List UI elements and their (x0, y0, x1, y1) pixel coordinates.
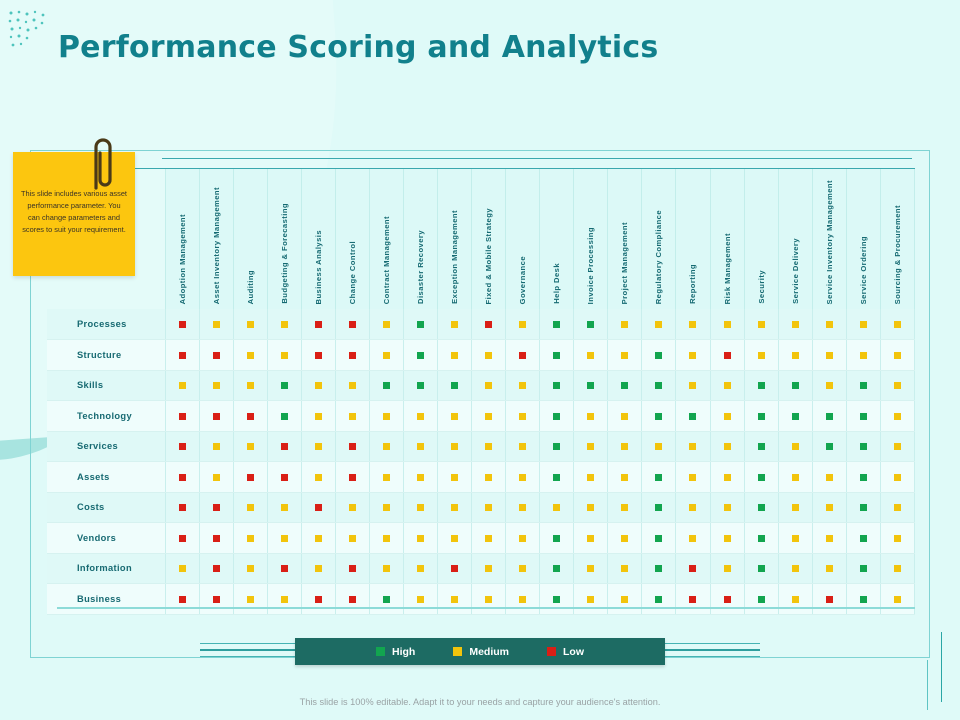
score-marker-medium (894, 321, 901, 328)
matrix-cell[interactable] (744, 584, 778, 615)
matrix-cell[interactable] (438, 340, 472, 371)
matrix-cell[interactable] (233, 462, 267, 493)
matrix-cell[interactable] (267, 462, 301, 493)
matrix-cell[interactable] (438, 553, 472, 584)
matrix-cell[interactable] (438, 492, 472, 523)
matrix-cell[interactable] (846, 340, 880, 371)
matrix-cell[interactable] (335, 309, 369, 340)
matrix-cell[interactable] (165, 401, 199, 432)
matrix-cell[interactable] (540, 553, 574, 584)
matrix-cell[interactable] (880, 340, 914, 371)
matrix-cell[interactable] (778, 553, 812, 584)
matrix-column-header-label: Sourcing & Procurement (892, 205, 903, 304)
matrix-cell[interactable] (438, 431, 472, 462)
matrix-cell[interactable] (778, 370, 812, 401)
matrix-cell[interactable] (506, 401, 540, 432)
matrix-cell[interactable] (267, 492, 301, 523)
score-marker-medium (383, 535, 390, 542)
matrix-cell[interactable] (335, 553, 369, 584)
matrix-cell[interactable] (267, 523, 301, 554)
score-marker-low (315, 321, 322, 328)
matrix-cell[interactable] (369, 370, 403, 401)
matrix-cell[interactable] (710, 370, 744, 401)
score-marker-low (247, 413, 254, 420)
matrix-cell[interactable] (676, 553, 710, 584)
matrix-cell[interactable] (301, 553, 335, 584)
score-marker-medium (485, 596, 492, 603)
matrix-cell[interactable] (199, 431, 233, 462)
matrix-cell[interactable] (846, 523, 880, 554)
matrix-cell[interactable] (403, 462, 437, 493)
matrix-cell[interactable] (642, 553, 676, 584)
matrix-cell[interactable] (199, 492, 233, 523)
matrix-cell[interactable] (880, 401, 914, 432)
matrix-row-label: Skills (47, 370, 165, 401)
matrix-cell[interactable] (710, 584, 744, 615)
matrix-cell[interactable] (778, 492, 812, 523)
score-marker-high (553, 443, 560, 450)
matrix-cell[interactable] (812, 584, 846, 615)
matrix-cell[interactable] (540, 370, 574, 401)
matrix-cell[interactable] (574, 340, 608, 371)
matrix-cell[interactable] (642, 462, 676, 493)
table-row: Business (47, 584, 915, 615)
score-marker-high (383, 596, 390, 603)
matrix-cell[interactable] (574, 401, 608, 432)
matrix-cell[interactable] (540, 523, 574, 554)
matrix-cell[interactable] (676, 370, 710, 401)
matrix-cell[interactable] (846, 309, 880, 340)
matrix-cell[interactable] (608, 462, 642, 493)
matrix-cell[interactable] (880, 553, 914, 584)
score-marker-medium (315, 474, 322, 481)
score-marker-medium (383, 504, 390, 511)
matrix-cell[interactable] (846, 431, 880, 462)
matrix-cell[interactable] (472, 309, 506, 340)
matrix-cell[interactable] (642, 401, 676, 432)
score-marker-medium (281, 504, 288, 511)
matrix-cell[interactable] (301, 340, 335, 371)
matrix-column-header: Sourcing & Procurement (880, 169, 914, 309)
table-row: Vendors (47, 523, 915, 554)
matrix-cell[interactable] (335, 523, 369, 554)
matrix-cell[interactable] (335, 431, 369, 462)
matrix-cell[interactable] (267, 370, 301, 401)
score-marker-medium (553, 504, 560, 511)
matrix-cell[interactable] (438, 401, 472, 432)
matrix-cell[interactable] (812, 462, 846, 493)
matrix-cell[interactable] (642, 523, 676, 554)
matrix-cell[interactable] (438, 462, 472, 493)
sticky-note-text: This slide includes various asset perfor… (13, 152, 135, 236)
matrix-cell[interactable] (369, 401, 403, 432)
matrix-cell[interactable] (301, 523, 335, 554)
matrix-cell[interactable] (710, 401, 744, 432)
matrix-cell[interactable] (778, 401, 812, 432)
matrix-cell[interactable] (608, 431, 642, 462)
matrix-cell[interactable] (199, 340, 233, 371)
matrix-cell[interactable] (403, 553, 437, 584)
matrix-cell[interactable] (676, 401, 710, 432)
matrix-cell[interactable] (267, 431, 301, 462)
score-marker-medium (213, 474, 220, 481)
score-marker-high (655, 504, 662, 511)
matrix-cell[interactable] (540, 401, 574, 432)
matrix-cell[interactable] (301, 584, 335, 615)
score-marker-medium (247, 443, 254, 450)
score-marker-high (860, 413, 867, 420)
matrix-cell[interactable] (710, 523, 744, 554)
matrix-cell[interactable] (438, 309, 472, 340)
matrix-cell[interactable] (335, 401, 369, 432)
matrix-cell[interactable] (472, 584, 506, 615)
score-marker-medium (587, 352, 594, 359)
matrix-cell[interactable] (642, 492, 676, 523)
matrix-cell[interactable] (233, 431, 267, 462)
matrix-cell[interactable] (233, 401, 267, 432)
score-marker-medium (894, 535, 901, 542)
matrix-cell[interactable] (267, 584, 301, 615)
matrix-cell[interactable] (369, 462, 403, 493)
matrix-column-header-label: Service Ordering (858, 236, 869, 304)
matrix-cell[interactable] (778, 340, 812, 371)
matrix-cell[interactable] (369, 309, 403, 340)
matrix-cell[interactable] (403, 370, 437, 401)
matrix-cell[interactable] (199, 309, 233, 340)
dot-pattern-decoration (6, 8, 52, 54)
matrix-cell[interactable] (369, 431, 403, 462)
matrix-cell[interactable] (880, 370, 914, 401)
matrix-cell[interactable] (608, 553, 642, 584)
matrix-cell[interactable] (506, 462, 540, 493)
matrix-column-header-label: Auditing (245, 270, 256, 304)
matrix-cell[interactable] (233, 370, 267, 401)
score-marker-high (860, 443, 867, 450)
score-marker-medium (281, 352, 288, 359)
matrix-row-label: Costs (47, 492, 165, 523)
matrix-cell[interactable] (403, 401, 437, 432)
matrix-cell[interactable] (472, 370, 506, 401)
matrix-cell[interactable] (506, 553, 540, 584)
matrix-cell[interactable] (608, 584, 642, 615)
matrix-column-header-label: Contract Management (381, 216, 392, 304)
matrix-cell[interactable] (812, 309, 846, 340)
matrix-cell[interactable] (642, 431, 676, 462)
matrix-cell[interactable] (165, 523, 199, 554)
matrix-cell[interactable] (574, 523, 608, 554)
matrix-cell[interactable] (506, 370, 540, 401)
matrix-cell[interactable] (199, 584, 233, 615)
score-marker-medium (383, 321, 390, 328)
score-marker-medium (247, 504, 254, 511)
matrix-cell[interactable] (369, 340, 403, 371)
matrix-cell[interactable] (540, 340, 574, 371)
matrix-cell[interactable] (846, 401, 880, 432)
score-marker-medium (213, 382, 220, 389)
matrix-cell[interactable] (880, 584, 914, 615)
matrix-cell[interactable] (472, 431, 506, 462)
matrix-cell[interactable] (369, 492, 403, 523)
score-marker-medium (792, 321, 799, 328)
score-marker-low (724, 352, 731, 359)
matrix-cell[interactable] (472, 553, 506, 584)
score-marker-medium (826, 504, 833, 511)
score-marker-medium (315, 413, 322, 420)
matrix-cell[interactable] (199, 553, 233, 584)
matrix-column-header-label: Exception Management (449, 210, 460, 304)
matrix-cell[interactable] (506, 340, 540, 371)
score-marker-medium (894, 565, 901, 572)
matrix-cell[interactable] (233, 492, 267, 523)
matrix-cell[interactable] (676, 309, 710, 340)
matrix-cell[interactable] (744, 370, 778, 401)
score-marker-medium (621, 321, 628, 328)
matrix-cell[interactable] (812, 553, 846, 584)
matrix-cell[interactable] (165, 553, 199, 584)
matrix-cell[interactable] (608, 370, 642, 401)
matrix-cell[interactable] (199, 370, 233, 401)
matrix-cell[interactable] (846, 370, 880, 401)
matrix-column-header: Asset Inventory Management (199, 169, 233, 309)
matrix-cell[interactable] (812, 340, 846, 371)
score-marker-medium (689, 504, 696, 511)
matrix-cell[interactable] (608, 309, 642, 340)
matrix-cell[interactable] (335, 584, 369, 615)
matrix-cell[interactable] (301, 462, 335, 493)
matrix-cell[interactable] (438, 370, 472, 401)
matrix-cell[interactable] (744, 553, 778, 584)
matrix-cell[interactable] (710, 462, 744, 493)
matrix-cell[interactable] (506, 584, 540, 615)
matrix-cell[interactable] (676, 462, 710, 493)
score-marker-medium (860, 321, 867, 328)
matrix-cell[interactable] (472, 523, 506, 554)
score-marker-medium (519, 413, 526, 420)
matrix-cell[interactable] (846, 492, 880, 523)
matrix-cell[interactable] (165, 492, 199, 523)
score-marker-high (587, 321, 594, 328)
matrix-cell[interactable] (165, 462, 199, 493)
matrix-cell[interactable] (301, 309, 335, 340)
matrix-cell[interactable] (676, 492, 710, 523)
matrix-cell[interactable] (846, 462, 880, 493)
matrix-cell[interactable] (710, 309, 744, 340)
matrix-cell[interactable] (233, 523, 267, 554)
score-marker-low (213, 352, 220, 359)
matrix-cell[interactable] (403, 492, 437, 523)
score-marker-medium (519, 596, 526, 603)
matrix-cell[interactable] (540, 492, 574, 523)
matrix-cell[interactable] (744, 523, 778, 554)
score-marker-high (792, 413, 799, 420)
matrix-cell[interactable] (744, 431, 778, 462)
matrix-column-header: Regulatory Compliance (642, 169, 676, 309)
matrix-row-label: Processes (47, 309, 165, 340)
matrix-column-header: Exception Management (438, 169, 472, 309)
matrix-cell[interactable] (642, 584, 676, 615)
matrix-cell[interactable] (267, 401, 301, 432)
matrix-cell[interactable] (574, 492, 608, 523)
matrix-cell[interactable] (880, 492, 914, 523)
matrix-cell[interactable] (642, 309, 676, 340)
matrix-cell[interactable] (710, 340, 744, 371)
matrix-cell[interactable] (472, 340, 506, 371)
matrix-cell[interactable] (301, 370, 335, 401)
matrix-row-label: Structure (47, 340, 165, 371)
score-marker-medium (724, 443, 731, 450)
matrix-cell[interactable] (540, 584, 574, 615)
matrix-cell[interactable] (574, 462, 608, 493)
score-marker-medium (247, 382, 254, 389)
score-marker-medium (451, 321, 458, 328)
matrix-cell[interactable] (199, 523, 233, 554)
matrix-cell[interactable] (574, 553, 608, 584)
matrix-cell[interactable] (642, 370, 676, 401)
matrix-cell[interactable] (608, 523, 642, 554)
matrix-cell[interactable] (369, 523, 403, 554)
matrix-cell[interactable] (812, 401, 846, 432)
score-marker-medium (485, 413, 492, 420)
matrix-cell[interactable] (267, 309, 301, 340)
score-marker-medium (587, 504, 594, 511)
matrix-cell[interactable] (403, 309, 437, 340)
matrix-cell[interactable] (744, 340, 778, 371)
matrix-cell[interactable] (301, 431, 335, 462)
matrix-cell[interactable] (744, 492, 778, 523)
score-marker-low (724, 596, 731, 603)
matrix-cell[interactable] (267, 340, 301, 371)
score-marker-medium (724, 504, 731, 511)
matrix-cell[interactable] (744, 462, 778, 493)
matrix-cell[interactable] (335, 370, 369, 401)
matrix-cell[interactable] (812, 523, 846, 554)
matrix-cell[interactable] (608, 340, 642, 371)
matrix-cell[interactable] (574, 309, 608, 340)
matrix-cell[interactable] (812, 370, 846, 401)
matrix-cell[interactable] (506, 492, 540, 523)
score-marker-low (179, 443, 186, 450)
legend-label: Low (563, 646, 584, 658)
matrix-cell[interactable] (540, 309, 574, 340)
matrix-cell[interactable] (880, 462, 914, 493)
matrix-cell[interactable] (710, 553, 744, 584)
matrix-cell[interactable] (812, 492, 846, 523)
matrix-column-header: Service Ordering (846, 169, 880, 309)
matrix-cell[interactable] (335, 492, 369, 523)
matrix-cell[interactable] (778, 523, 812, 554)
matrix-cell[interactable] (301, 492, 335, 523)
matrix-cell[interactable] (165, 370, 199, 401)
matrix-cell[interactable] (744, 309, 778, 340)
matrix-cell[interactable] (676, 584, 710, 615)
matrix-cell[interactable] (335, 462, 369, 493)
matrix-cell[interactable] (540, 462, 574, 493)
matrix-cell[interactable] (472, 462, 506, 493)
score-marker-high (826, 413, 833, 420)
matrix-cell[interactable] (880, 431, 914, 462)
matrix-cell[interactable] (165, 584, 199, 615)
matrix-cell[interactable] (233, 584, 267, 615)
matrix-cell[interactable] (676, 340, 710, 371)
matrix-cell[interactable] (267, 553, 301, 584)
matrix-cell[interactable] (438, 584, 472, 615)
matrix-cell[interactable] (676, 523, 710, 554)
matrix-cell[interactable] (710, 492, 744, 523)
matrix-cell[interactable] (233, 309, 267, 340)
score-marker-medium (417, 413, 424, 420)
matrix-cell[interactable] (369, 553, 403, 584)
matrix-cell[interactable] (778, 309, 812, 340)
score-marker-high (553, 382, 560, 389)
score-marker-medium (724, 413, 731, 420)
matrix-row-label: Technology (47, 401, 165, 432)
matrix-cell[interactable] (506, 309, 540, 340)
legend-swatch-high (376, 647, 385, 656)
matrix-cell[interactable] (165, 431, 199, 462)
matrix-cell[interactable] (369, 584, 403, 615)
score-marker-medium (451, 504, 458, 511)
matrix-cell[interactable] (608, 492, 642, 523)
matrix-cell[interactable] (574, 584, 608, 615)
matrix-cell[interactable] (574, 431, 608, 462)
score-marker-high (383, 382, 390, 389)
matrix-cell[interactable] (540, 431, 574, 462)
matrix-cell[interactable] (403, 431, 437, 462)
matrix-cell[interactable] (812, 431, 846, 462)
matrix-cell[interactable] (676, 431, 710, 462)
matrix-cell[interactable] (846, 584, 880, 615)
matrix-cell[interactable] (880, 523, 914, 554)
matrix-cell[interactable] (880, 309, 914, 340)
score-marker-medium (587, 535, 594, 542)
matrix-cell[interactable] (165, 340, 199, 371)
matrix-cell[interactable] (199, 401, 233, 432)
matrix-cell[interactable] (233, 553, 267, 584)
table-row: Technology (47, 401, 915, 432)
matrix-cell[interactable] (778, 584, 812, 615)
score-marker-medium (519, 535, 526, 542)
matrix-cell[interactable] (403, 584, 437, 615)
score-marker-medium (894, 352, 901, 359)
matrix-cell[interactable] (301, 401, 335, 432)
matrix-cell[interactable] (744, 401, 778, 432)
matrix-column-header: Adoption Management (165, 169, 199, 309)
matrix-cell[interactable] (846, 553, 880, 584)
matrix-cell[interactable] (199, 462, 233, 493)
matrix-cell[interactable] (335, 340, 369, 371)
matrix-cell[interactable] (506, 431, 540, 462)
matrix-cell[interactable] (472, 401, 506, 432)
score-marker-medium (417, 565, 424, 572)
matrix-cell[interactable] (608, 401, 642, 432)
matrix-cell[interactable] (778, 431, 812, 462)
score-marker-medium (383, 443, 390, 450)
matrix-cell[interactable] (642, 340, 676, 371)
matrix-cell[interactable] (165, 309, 199, 340)
matrix-cell[interactable] (778, 462, 812, 493)
matrix-cell[interactable] (710, 431, 744, 462)
score-marker-medium (485, 352, 492, 359)
matrix-cell[interactable] (403, 340, 437, 371)
matrix-cell[interactable] (403, 523, 437, 554)
matrix-cell[interactable] (233, 340, 267, 371)
matrix-cell[interactable] (506, 523, 540, 554)
score-marker-high (758, 596, 765, 603)
matrix-cell[interactable] (574, 370, 608, 401)
matrix-cell[interactable] (472, 492, 506, 523)
matrix-column-header-label: Service Delivery (790, 238, 801, 304)
matrix-cell[interactable] (438, 523, 472, 554)
